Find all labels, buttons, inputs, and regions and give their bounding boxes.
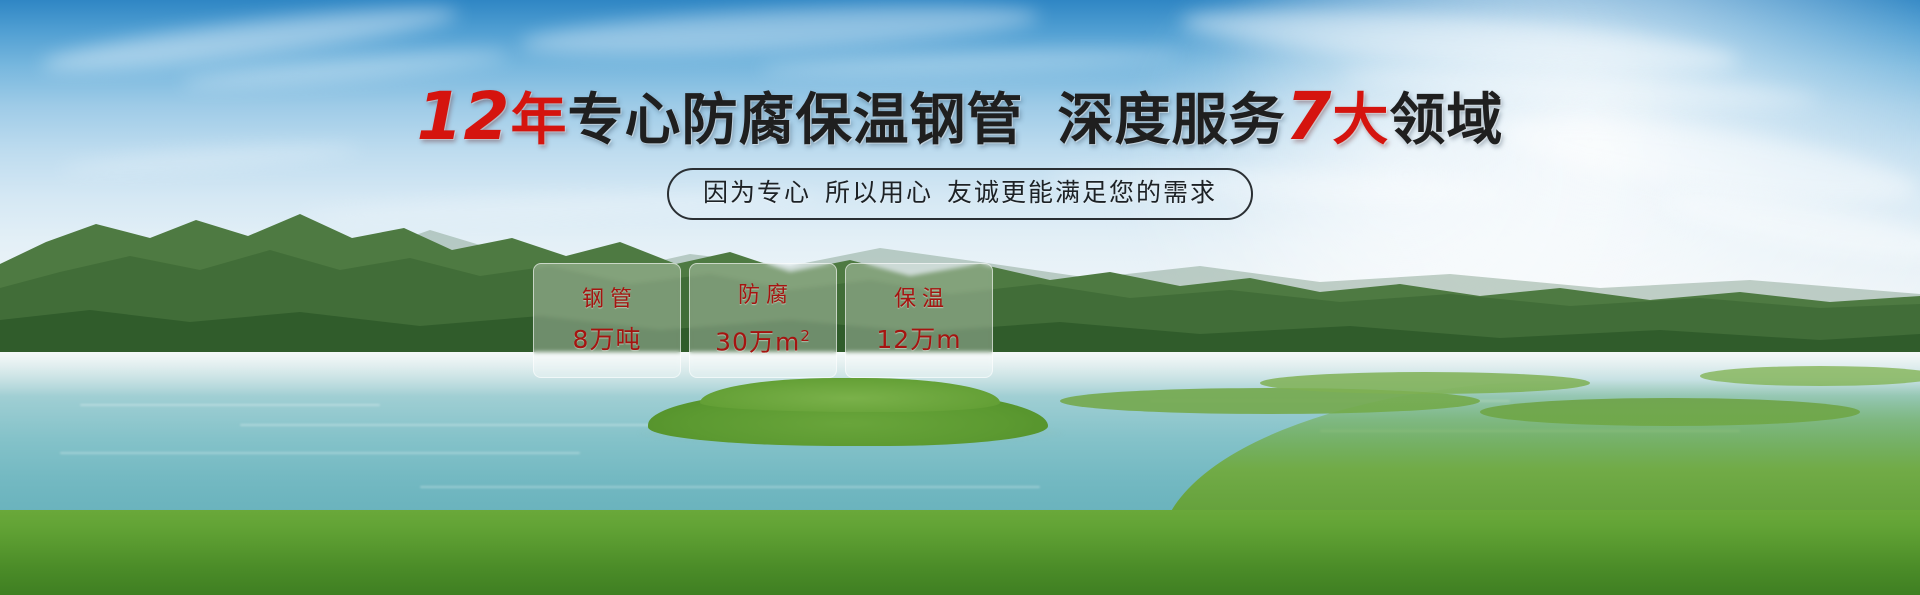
stat-value-base: 12万m — [876, 325, 961, 354]
stat-card-anticorrosion: 防腐 30万m2 — [689, 263, 837, 378]
stat-value-superscript: 2 — [800, 327, 811, 345]
banner-subtitle-pill: 因为专心所以用心友诚更能满足您的需求 — [667, 168, 1253, 220]
headline-segment-1: 专心防腐保温钢管 — [567, 88, 1023, 153]
banner-headline: 12年专心防腐保温钢管深度服务7大领域 — [0, 86, 1920, 152]
stat-value: 8万吨 — [573, 325, 642, 355]
headline-segment-2: 深度服务 — [1057, 88, 1285, 153]
subtitle-part-2: 所以用心 — [825, 178, 933, 207]
stat-card-insulation: 保温 12万m — [845, 263, 993, 378]
hero-banner: 12年专心防腐保温钢管深度服务7大领域 因为专心所以用心友诚更能满足您的需求 钢… — [0, 0, 1920, 595]
stat-label: 防腐 — [732, 283, 794, 309]
headline-years-unit: 年 — [510, 88, 567, 153]
subtitle-part-1: 因为专心 — [703, 178, 811, 207]
headline-segment-3: 领域 — [1389, 88, 1503, 153]
stat-value-base: 8万吨 — [573, 325, 642, 354]
headline-fields-number: 7 — [1285, 78, 1332, 155]
stat-value-base: 30万m — [715, 328, 800, 357]
stat-value: 12万m — [876, 325, 961, 355]
stat-value: 30万m2 — [715, 321, 811, 357]
headline-years-number: 12 — [417, 78, 511, 155]
stat-label: 钢管 — [576, 287, 638, 313]
stat-card-steel-pipe: 钢管 8万吨 — [533, 263, 681, 378]
banner-subtitle-wrap: 因为专心所以用心友诚更能满足您的需求 — [0, 168, 1920, 220]
headline-fields-unit: 大 — [1332, 88, 1389, 153]
stat-label: 保温 — [888, 287, 950, 313]
subtitle-part-3: 友诚更能满足您的需求 — [947, 178, 1217, 207]
stat-card-group: 钢管 8万吨 防腐 30万m2 保温 12万m — [533, 263, 993, 378]
banner-content: 12年专心防腐保温钢管深度服务7大领域 因为专心所以用心友诚更能满足您的需求 钢… — [0, 0, 1920, 595]
